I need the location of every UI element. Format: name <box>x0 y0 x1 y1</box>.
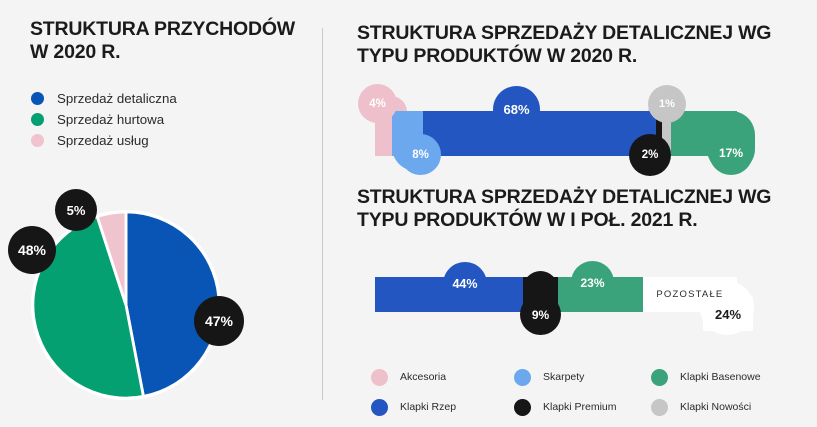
legend-swatch-klapki-nowosci <box>651 399 668 416</box>
pie-label-services: 5% <box>55 189 97 231</box>
pie-label-services-text: 5% <box>67 203 86 218</box>
bar-label-klapki-premium-2020: 2% <box>629 134 671 176</box>
legend-swatch-klapki-basenowe <box>651 369 668 386</box>
bar-label-klapki-premium-2021-text: 9% <box>532 308 549 322</box>
legend-swatch-klapki-premium <box>514 399 531 416</box>
bar-label-pozostale-2021-text: 24% <box>715 307 741 322</box>
bar-label-klapki-premium-2021: 9% <box>520 294 561 335</box>
legend-item-services: Sprzedaż usług <box>31 130 301 151</box>
legend-item-klapki-basenowe: Klapki Basenowe <box>651 362 817 392</box>
legend-swatch-akcesoria <box>371 369 388 386</box>
infographic-canvas: STRUKTURA PRZYCHODÓW W 2020 R. Sprzedaż … <box>0 0 817 427</box>
legend-label-akcesoria: Akcesoria <box>400 371 446 383</box>
bar-label-klapki-rzep-2021-text: 44% <box>452 277 477 291</box>
pie-label-retail: 47% <box>194 296 244 346</box>
legend-label-klapki-rzep: Klapki Rzep <box>400 401 456 413</box>
bar-label-klapki-rzep-2020: 68% <box>493 86 540 133</box>
chart-title-2021: STRUKTURA SPRZEDAŻY DETALICZNEJ WG TYPU … <box>357 186 807 233</box>
legend-item-retail: Sprzedaż detaliczna <box>31 88 301 109</box>
legend-label-klapki-premium: Klapki Premium <box>543 401 617 413</box>
bar-label-akcesoria-2020: 4% <box>358 84 397 123</box>
legend-label-retail: Sprzedaż detaliczna <box>57 91 177 106</box>
bar-label-skarpety-2020-text: 8% <box>412 149 429 161</box>
bar-label-klapki-basenowe-2020: 17% <box>709 131 753 175</box>
revenue-pie-chart <box>29 209 223 401</box>
legend-column-2: Skarpety Klapki Premium <box>514 362 674 422</box>
bar-label-klapki-nowosci-2020: 1% <box>648 85 686 123</box>
legend-item-akcesoria: Akcesoria <box>371 362 521 392</box>
bar-label-klapki-nowosci-2020-text: 1% <box>659 98 675 110</box>
legend-column-1: Akcesoria Klapki Rzep <box>371 362 521 422</box>
legend-label-services: Sprzedaż usług <box>57 133 149 148</box>
bar-label-klapki-basenowe-2021: 23% <box>571 261 614 304</box>
pie-label-wholesale-text: 48% <box>18 242 46 258</box>
legend-item-klapki-premium: Klapki Premium <box>514 392 674 422</box>
legend-swatch-skarpety <box>514 369 531 386</box>
chart-title-2020: STRUKTURA SPRZEDAŻY DETALICZNEJ WG TYPU … <box>357 22 807 69</box>
legend-label-klapki-nowosci: Klapki Nowości <box>680 401 751 413</box>
bar-label-pozostale-2021: 24% <box>703 297 753 331</box>
left-legend: Sprzedaż detaliczna Sprzedaż hurtowa Spr… <box>31 88 301 151</box>
bar-label-klapki-premium-2020-text: 2% <box>642 149 659 161</box>
segment-klapki-rzep-2020 <box>423 111 656 156</box>
legend-swatch-services <box>31 134 44 147</box>
legend-swatch-klapki-rzep <box>371 399 388 416</box>
left-panel-title: STRUKTURA PRZYCHODÓW W 2020 R. <box>30 18 310 65</box>
legend-swatch-retail <box>31 92 44 105</box>
pie-label-retail-text: 47% <box>205 313 233 329</box>
panel-divider <box>322 28 323 400</box>
legend-swatch-wholesale <box>31 113 44 126</box>
bar-label-skarpety-2020: 8% <box>400 134 441 175</box>
bar-label-akcesoria-2020-text: 4% <box>369 98 386 110</box>
legend-item-klapki-rzep: Klapki Rzep <box>371 392 521 422</box>
legend-item-wholesale: Sprzedaż hurtowa <box>31 109 301 130</box>
legend-label-skarpety: Skarpety <box>543 371 584 383</box>
bar-label-klapki-basenowe-2020-text: 17% <box>719 146 743 160</box>
pie-svg <box>29 209 223 401</box>
legend-label-wholesale: Sprzedaż hurtowa <box>57 112 164 127</box>
legend-column-3: Klapki Basenowe Klapki Nowości <box>651 362 817 422</box>
pie-label-wholesale: 48% <box>8 226 56 274</box>
bar-label-klapki-rzep-2020-text: 68% <box>503 102 529 117</box>
legend-label-klapki-basenowe: Klapki Basenowe <box>680 371 761 383</box>
bar-label-klapki-rzep-2021: 44% <box>443 262 487 306</box>
legend-item-klapki-nowosci: Klapki Nowości <box>651 392 817 422</box>
legend-item-skarpety: Skarpety <box>514 362 674 392</box>
bar-label-klapki-basenowe-2021-text: 23% <box>580 276 604 290</box>
